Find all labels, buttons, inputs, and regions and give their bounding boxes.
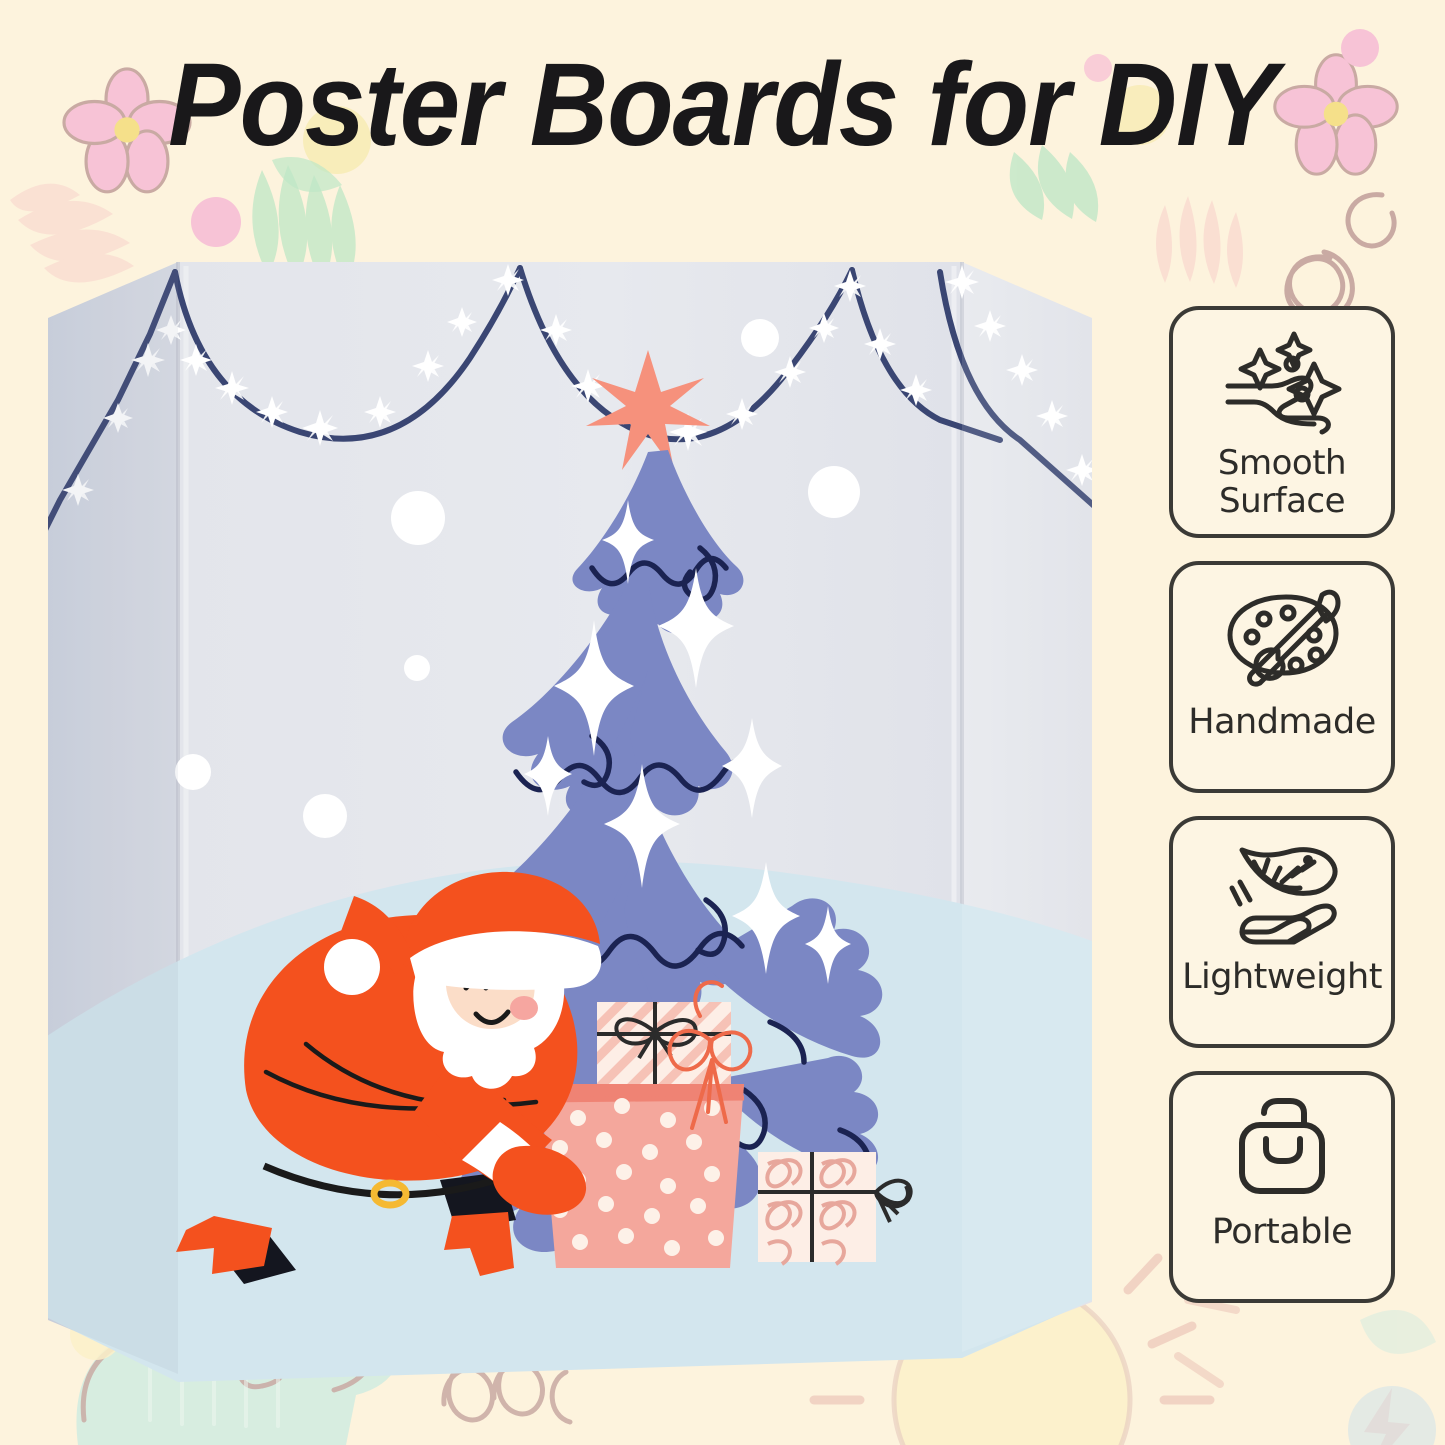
feature-badge-lightweight[interactable]: Lightweight — [1169, 816, 1395, 1048]
santa-hat-pompom — [324, 939, 380, 995]
board-right-shade — [962, 262, 1092, 1352]
hand-sparkle-icon — [1216, 326, 1348, 444]
feature-label-line2: Surface — [1218, 482, 1346, 520]
feature-badge-label: Smooth Surface — [1218, 444, 1346, 520]
feature-badge-list: Smooth Surface Handmade — [1169, 306, 1397, 1303]
product-marketing-image: Poster Boards for DIY Smooth Surface — [0, 0, 1445, 1445]
feature-badge-label: Portable — [1212, 1213, 1352, 1252]
feather-hand-icon — [1216, 836, 1348, 954]
briefcase-icon — [1216, 1091, 1348, 1209]
feature-label-line1: Smooth — [1218, 444, 1346, 482]
santa-cheek — [510, 996, 538, 1020]
feature-badge-handmade[interactable]: Handmade — [1169, 561, 1395, 793]
feature-badge-portable[interactable]: Portable — [1169, 1071, 1395, 1303]
feature-badge-label: Handmade — [1188, 703, 1375, 742]
feature-badge-smooth-surface[interactable]: Smooth Surface — [1169, 306, 1395, 538]
page-title: Poster Boards for DIY — [58, 44, 1387, 168]
paint-palette-icon — [1216, 581, 1348, 699]
feature-badge-label: Lightweight — [1182, 958, 1382, 997]
board-left-shade — [48, 262, 178, 1374]
